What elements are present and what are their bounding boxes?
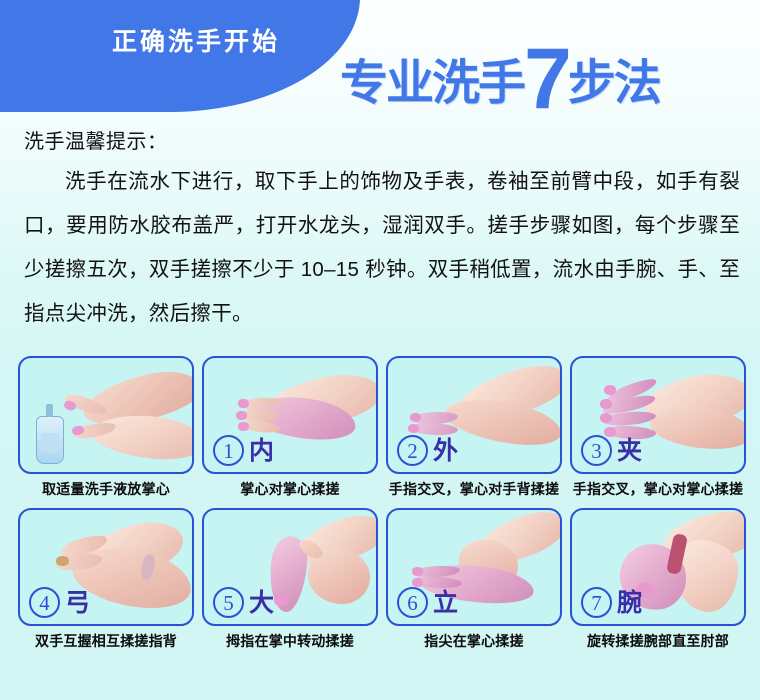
main-title-part-3: 步法 [568, 57, 660, 110]
step-keyword-3: 夹 [617, 437, 642, 465]
tips-block: 洗手温馨提示： 洗手在流水下进行，取下手上的饰物及手表，卷袖至前臂中段，如手有裂… [24, 124, 740, 336]
step-cell-4: 4 弓 双手互握相互揉搓指背 [18, 508, 194, 656]
tips-heading: 洗手温馨提示： [24, 124, 740, 160]
step-cell-2: 2 外 手指交叉，掌心对手背揉搓 [386, 356, 562, 504]
step-number-7: 7 [581, 587, 612, 618]
step-number-3: 3 [581, 435, 612, 466]
step-panel-4: 4 弓 [18, 508, 194, 626]
step-panel-0 [18, 356, 194, 474]
step-number-4: 4 [29, 587, 60, 618]
poster-header: 正确洗手开始 专业洗手7步法 [0, 0, 760, 118]
step-cell-6: 6 立 指尖在掌心揉搓 [386, 508, 562, 656]
step-caption-5: 拇指在掌中转动揉搓 [202, 626, 378, 656]
step-number-2: 2 [397, 435, 428, 466]
step-keyword-4: 弓 [65, 589, 90, 617]
step-keyword-6: 立 [433, 589, 458, 617]
step-caption-2: 手指交叉，掌心对手背揉搓 [386, 474, 562, 504]
step-panel-3: 3 夹 [570, 356, 746, 474]
step-badge-2: 2 外 [397, 435, 458, 466]
steps-grid: 取适量洗手液放掌心 1 内 掌心对掌心揉 [18, 356, 746, 656]
step-panel-2: 2 外 [386, 356, 562, 474]
step-number-5: 5 [213, 587, 244, 618]
step-panel-6: 6 立 [386, 508, 562, 626]
step-cell-0: 取适量洗手液放掌心 [18, 356, 194, 504]
header-blob-title: 正确洗手开始 [112, 22, 280, 58]
step-caption-6: 指尖在掌心揉搓 [386, 626, 562, 656]
step-caption-0: 取适量洗手液放掌心 [18, 474, 194, 504]
step-cell-1: 1 内 掌心对掌心揉搓 [202, 356, 378, 504]
step-panel-1: 1 内 [202, 356, 378, 474]
main-title-number-7: 7 [524, 31, 568, 127]
step-keyword-1: 内 [249, 437, 274, 465]
step-caption-1: 掌心对掌心揉搓 [202, 474, 378, 504]
step-caption-3: 手指交叉，掌心对掌心揉搓 [570, 474, 746, 504]
step-keyword-2: 外 [433, 437, 458, 465]
step-caption-7: 旋转揉搓腕部直至肘部 [570, 626, 746, 656]
step-badge-1: 1 内 [213, 435, 274, 466]
step-cell-7: 7 腕 旋转揉搓腕部直至肘部 [570, 508, 746, 656]
wash-hands-poster: 正确洗手开始 专业洗手7步法 洗手温馨提示： 洗手在流水下进行，取下手上的饰物及… [0, 0, 760, 700]
step-badge-6: 6 立 [397, 587, 458, 618]
step-caption-4: 双手互握相互揉搓指背 [18, 626, 194, 656]
step-badge-3: 3 夹 [581, 435, 642, 466]
step-number-6: 6 [397, 587, 428, 618]
step-badge-4: 4 弓 [29, 587, 90, 618]
main-title-part-1: 专业洗手 [340, 57, 524, 110]
step-cell-5: 5 大 拇指在掌中转动揉搓 [202, 508, 378, 656]
poster-main-title: 专业洗手7步法 [340, 34, 755, 106]
step-keyword-7: 腕 [617, 589, 642, 617]
step-cell-3: 3 夹 手指交叉，掌心对掌心揉搓 [570, 356, 746, 504]
step-panel-7: 7 腕 [570, 508, 746, 626]
step-badge-5: 5 大 [213, 587, 274, 618]
tips-body-paragraph: 洗手在流水下进行，取下手上的饰物及手表，卷袖至前臂中段，如手有裂口，要用防水胶布… [24, 160, 740, 336]
illustration-soap-bottle-hands [20, 358, 192, 472]
step-badge-7: 7 腕 [581, 587, 642, 618]
step-number-1: 1 [213, 435, 244, 466]
step-panel-5: 5 大 [202, 508, 378, 626]
step-keyword-5: 大 [249, 589, 274, 617]
